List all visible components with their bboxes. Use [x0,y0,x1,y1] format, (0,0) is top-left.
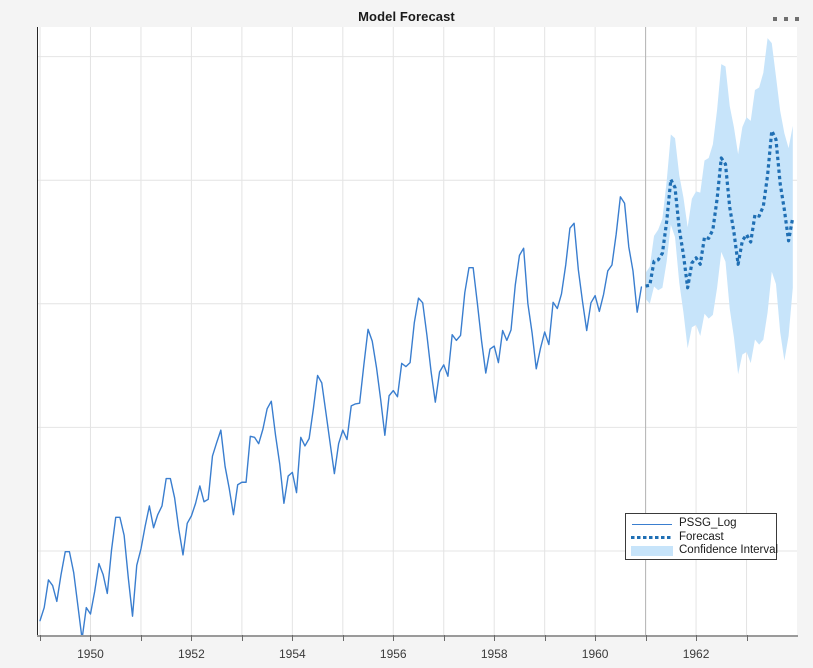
legend-item-confidence-interval[interactable]: Confidence Interval [630,544,771,558]
x-axis-tick-mark [343,635,344,641]
plot-wrapper: PSSG_Log Forecast Confidence Interval 19… [38,27,797,635]
solid-line-icon [630,518,674,530]
x-axis-tick-label: 1956 [380,647,407,661]
ellipsis-icon[interactable] [773,12,799,26]
x-axis-tick-label: 1960 [582,647,609,661]
confidence-interval-band [646,38,793,374]
x-axis-tick-mark [696,635,697,641]
page-title: Model Forecast [0,9,813,24]
legend-label-history: PSSG_Log [679,517,737,530]
x-axis-tick-mark [292,635,293,641]
history-series-line [40,197,641,635]
plot-area[interactable]: PSSG_Log Forecast Confidence Interval [38,27,797,635]
x-axis-tick-label: 1950 [77,647,104,661]
x-axis-tick-label: 1958 [481,647,508,661]
x-axis-tick-mark [191,635,192,641]
x-axis-tick-mark [646,635,647,641]
x-axis-tick-mark [444,635,445,641]
x-axis-tick-mark [545,635,546,641]
legend-label-forecast: Forecast [679,531,724,544]
x-axis-tick-mark [242,635,243,641]
x-axis-line [37,635,798,637]
x-axis-tick-label: 1954 [279,647,306,661]
ellipsis-dot-3 [795,17,799,21]
x-axis-tick-mark [494,635,495,641]
x-axis-tick-mark [141,635,142,641]
x-axis-tick-mark [595,635,596,641]
figure-container: Model Forecast 55.566.57 PSSG_Log [0,0,813,668]
band-swatch-icon [630,545,674,557]
y-axis-line [37,27,38,635]
x-axis-tick-label: 1952 [178,647,205,661]
legend-item-forecast[interactable]: Forecast [630,531,771,545]
ellipsis-dot-2 [784,17,788,21]
legend[interactable]: PSSG_Log Forecast Confidence Interval [625,513,777,560]
x-axis-tick-label: 1962 [683,647,710,661]
dotted-line-icon [630,531,674,543]
legend-label-confidence-interval: Confidence Interval [679,544,778,557]
x-axis-tick-mark [40,635,41,641]
ellipsis-dot-1 [773,17,777,21]
x-axis-tick-mark [90,635,91,641]
x-axis-tick-mark [393,635,394,641]
legend-item-history[interactable]: PSSG_Log [630,517,771,531]
x-axis-tick-mark [747,635,748,641]
